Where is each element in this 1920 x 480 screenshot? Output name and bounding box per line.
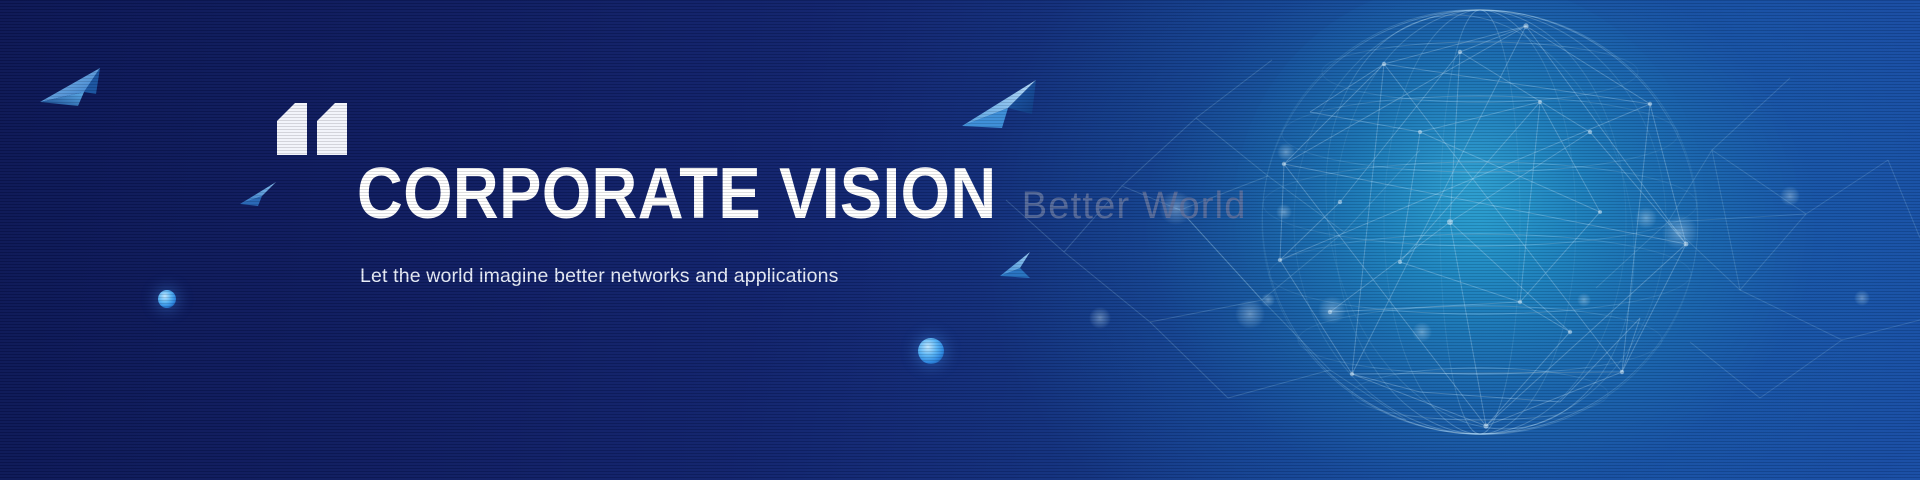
paper-plane-shard-1 bbox=[38, 64, 112, 110]
paper-plane-shard-4 bbox=[996, 250, 1046, 284]
paper-plane-shard-3 bbox=[958, 78, 1048, 134]
glow-dot-1 bbox=[158, 290, 176, 308]
network-globe-illustration bbox=[0, 0, 1920, 480]
title-row: CORPORATE VISION Better World bbox=[357, 158, 1247, 230]
tagline: Let the world imagine better networks an… bbox=[360, 265, 839, 288]
page-title: CORPORATE VISION bbox=[357, 158, 997, 230]
double-quote-icon bbox=[277, 103, 347, 155]
glow-dot-2 bbox=[918, 338, 944, 364]
page-subtitle: Better World bbox=[1022, 187, 1247, 225]
corporate-vision-banner: CORPORATE VISION Better World Let the wo… bbox=[0, 0, 1920, 480]
paper-plane-shard-2 bbox=[238, 180, 282, 210]
